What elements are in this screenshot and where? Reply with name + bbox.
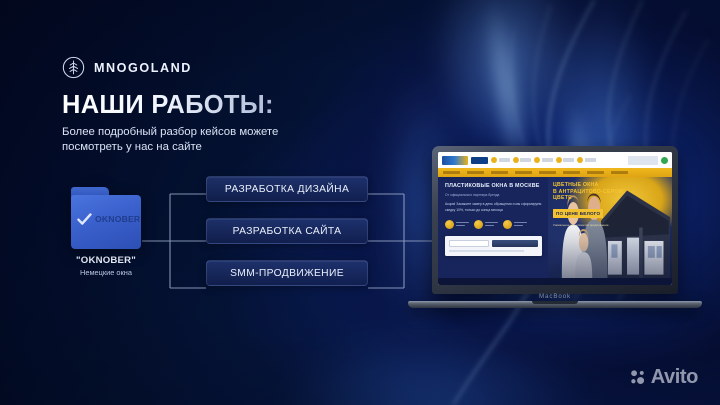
benefit-badge [503, 220, 527, 229]
laptop-base [408, 301, 702, 308]
feature-bullet-icon [491, 157, 497, 163]
feature-bullet-icon [534, 157, 540, 163]
client-name: "OKNOBER" [70, 255, 142, 266]
site-header-bar [438, 152, 672, 168]
client-tagline: Немецкие окна [70, 268, 142, 277]
slide-canvas: MNOGOLAND НАШИ РАБОТЫ: Более подробный р… [0, 0, 720, 405]
site-feature-item [534, 157, 553, 163]
site-feature-item [513, 157, 532, 163]
benefit-text-lines [514, 222, 527, 227]
site-feature-item [491, 157, 510, 163]
site-logo-icon[interactable] [442, 156, 468, 165]
hero-benefit-badges [445, 220, 542, 229]
site-nav-bar [438, 168, 672, 177]
medal-icon [474, 220, 483, 229]
feature-text-bar [585, 158, 596, 162]
banner-line-1: ЦВЕТНЫЕ ОКНА [553, 182, 662, 189]
subtitle-line-1: Более подробный разбор кейсов можете [62, 125, 392, 141]
feature-bullet-icon [556, 157, 562, 163]
hero-paragraph: Акция! Закажите замер в день обращения и… [445, 202, 542, 214]
brand-lockup: MNOGOLAND [62, 56, 392, 79]
quote-form-row [449, 240, 538, 248]
banner-fineprint: Уникальное для клиентов предложение [553, 223, 662, 228]
phone-input[interactable] [449, 240, 489, 247]
hero-copy-column: ПЛАСТИКОВЫЕ ОКНА В МОСКВЕ От официальног… [438, 177, 548, 278]
feature-bullet-icon [513, 157, 519, 163]
benefit-text-lines [456, 222, 469, 227]
laptop-screen[interactable]: ПЛАСТИКОВЫЕ ОКНА В МОСКВЕ От официальног… [438, 152, 672, 285]
blue-folder-icon: OKNOBER [71, 187, 141, 249]
service-label: РАЗРАБОТКА САЙТА [233, 226, 342, 237]
avito-watermark: Avito [629, 366, 698, 389]
site-feature-item [577, 157, 596, 163]
banner-copy: ЦВЕТНЫЕ ОКНА В АНТРАЦИТОВО-СЕРОМ ЦВЕТЕ П… [553, 182, 662, 228]
site-partner-logo-icon [471, 157, 488, 164]
page-subtitle: Более подробный разбор кейсов можете пос… [62, 125, 392, 156]
cart-icon[interactable] [661, 157, 668, 164]
page-title: НАШИ РАБОТЫ: [62, 92, 392, 119]
nav-item[interactable] [467, 171, 484, 174]
nav-item[interactable] [491, 171, 508, 174]
benefit-badge [474, 220, 498, 229]
brand-name: MNOGOLAND [94, 61, 192, 75]
calculate-price-button[interactable] [492, 240, 538, 248]
service-box-list: РАЗРАБОТКА ДИЗАЙНА РАЗРАБОТКА САЙТА SMM-… [206, 176, 368, 286]
banner-line-3: ЦВЕТЕ [553, 195, 662, 202]
nav-item[interactable] [443, 171, 460, 174]
site-phone-block[interactable] [628, 156, 658, 165]
feature-text-bar [542, 158, 553, 162]
nav-item[interactable] [611, 171, 628, 174]
quote-form-card [445, 236, 542, 257]
client-card[interactable]: OKNOBER "OKNOBER" Немецкие окна [70, 187, 142, 277]
folder-brand-word: OKNOBER [95, 215, 140, 224]
nav-item[interactable] [539, 171, 556, 174]
avito-wordmark: Avito [651, 366, 698, 389]
service-box-smm[interactable]: SMM-ПРОДВИЖЕНИЕ [206, 260, 368, 286]
service-label: SMM-ПРОДВИЖЕНИЕ [230, 268, 344, 279]
nav-item[interactable] [563, 171, 580, 174]
benefit-text-lines [485, 222, 498, 227]
banner-photo-overlay [548, 225, 672, 278]
website-preview: ПЛАСТИКОВЫЕ ОКНА В МОСКВЕ От официальног… [438, 152, 672, 285]
banner-line-2: В АНТРАЦИТОВО-СЕРОМ [553, 189, 662, 196]
site-feature-item [556, 157, 575, 163]
site-hero-section: ПЛАСТИКОВЫЕ ОКНА В МОСКВЕ От официальног… [438, 177, 672, 278]
header-block: MNOGOLAND НАШИ РАБОТЫ: Более подробный р… [62, 56, 392, 156]
hero-subtitle: От официального партнера бренда [445, 193, 542, 197]
laptop-brand-label: MacBook [408, 293, 702, 300]
checkmark-icon [77, 213, 92, 226]
form-consent-note [449, 250, 524, 252]
hero-title: ПЛАСТИКОВЫЕ ОКНА В МОСКВЕ [445, 184, 542, 190]
subtitle-line-2: посмотреть у нас на сайте [62, 140, 392, 156]
service-label: РАЗРАБОТКА ДИЗАЙНА [225, 184, 349, 195]
benefit-badge [445, 220, 469, 229]
service-box-design[interactable]: РАЗРАБОТКА ДИЗАЙНА [206, 176, 368, 202]
laptop-mockup: ПЛАСТИКОВЫЕ ОКНА В МОСКВЕ От официальног… [408, 146, 702, 314]
banner-price-tag: ПО ЦЕНЕ БЕЛОГО [553, 209, 603, 217]
laptop-lid: ПЛАСТИКОВЫЕ ОКНА В МОСКВЕ От официальног… [432, 146, 678, 294]
nav-item[interactable] [515, 171, 532, 174]
site-footer-bar [438, 278, 672, 285]
medal-icon [503, 220, 512, 229]
medal-icon [445, 220, 454, 229]
feature-text-bar [520, 158, 531, 162]
hero-promo-banner[interactable]: ЦВЕТНЫЕ ОКНА В АНТРАЦИТОВО-СЕРОМ ЦВЕТЕ П… [548, 177, 672, 278]
feature-text-bar [563, 158, 574, 162]
avito-dots-icon [629, 369, 646, 386]
nav-item[interactable] [587, 171, 604, 174]
feature-text-bar [499, 158, 510, 162]
folder-logo-glyph: OKNOBER [77, 213, 140, 226]
service-box-website[interactable]: РАЗРАБОТКА САЙТА [206, 218, 368, 244]
pine-tree-emblem-icon [62, 56, 85, 79]
feature-bullet-icon [577, 157, 583, 163]
services-flow-diagram: OKNOBER "OKNOBER" Немецкие окна РАЗРАБОТ… [58, 186, 448, 296]
